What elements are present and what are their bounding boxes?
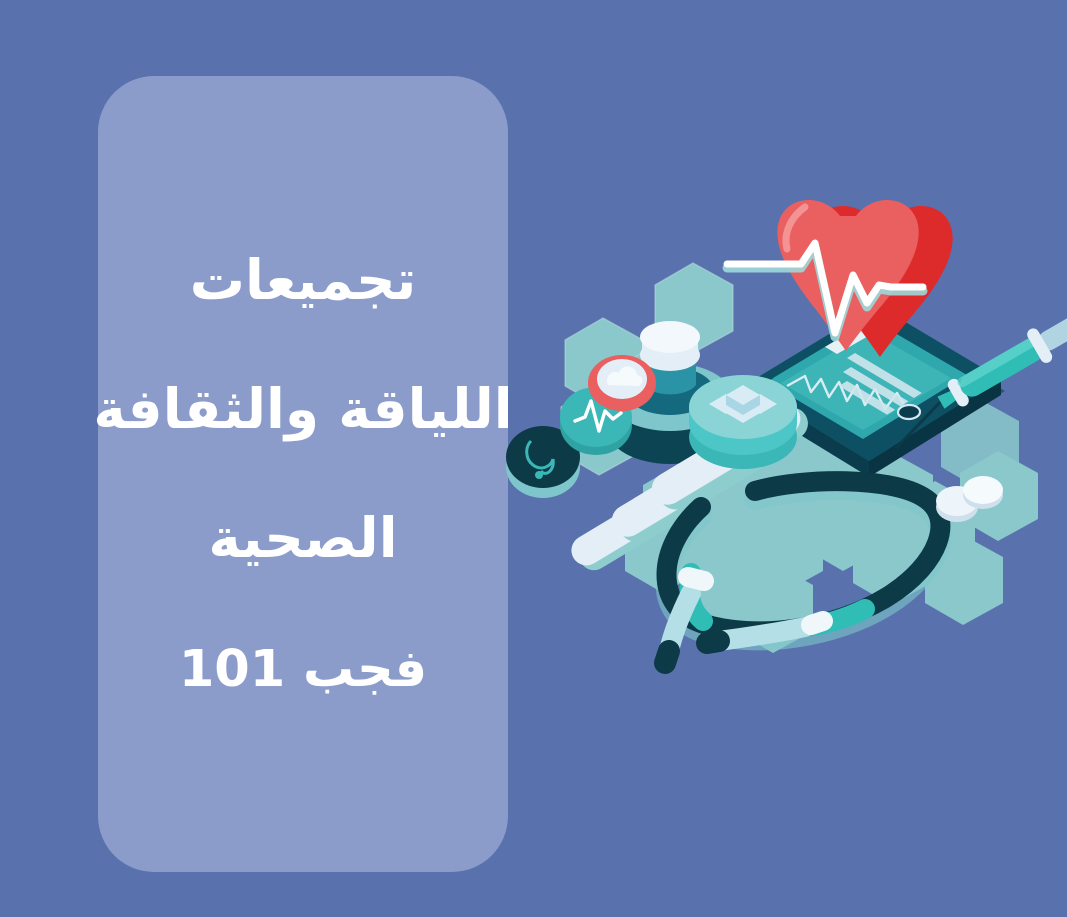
title-line-2: اللياقة والثقافة xyxy=(93,382,512,437)
poster-canvas: تجميعات اللياقة والثقافة الصحية فجب 101 xyxy=(0,0,1067,917)
title-line-3: الصحية xyxy=(208,511,397,566)
title-line-4-course-code: فجب 101 xyxy=(179,644,427,695)
title-text-block: تجميعات اللياقة والثقافة الصحية فجب 101 xyxy=(98,76,508,872)
heart-icon xyxy=(777,200,952,357)
health-illustration xyxy=(505,185,1067,685)
medical-cross-cylinder xyxy=(689,375,797,469)
cloud-badge-icon xyxy=(588,355,656,411)
title-line-1: تجميعات xyxy=(190,253,417,308)
